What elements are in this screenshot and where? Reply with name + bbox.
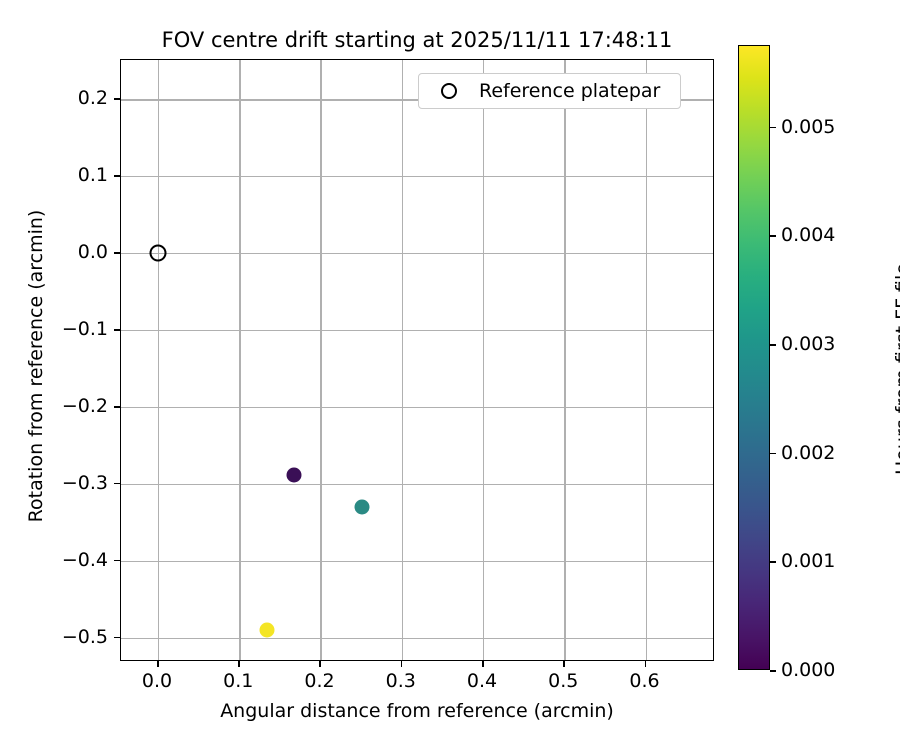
- x-tick-label: 0.1: [223, 670, 253, 692]
- colorbar-tick-label: 0.000: [781, 659, 835, 681]
- y-axis-label: Rotation from reference (arcmin): [25, 166, 47, 566]
- y-tick-label: 0.0: [78, 241, 108, 263]
- x-tick-label: 0.4: [467, 670, 497, 692]
- data-point[interactable]: [259, 623, 274, 638]
- reference-platepar-marker[interactable]: [149, 245, 166, 262]
- x-tick-mark: [319, 661, 321, 667]
- colorbar-tick-label: 0.001: [781, 550, 835, 572]
- y-tick-label: −0.3: [62, 472, 108, 494]
- colorbar-tick-mark: [770, 561, 776, 563]
- y-tick-mark: [114, 483, 120, 485]
- legend-open-circle-icon: [441, 83, 457, 99]
- y-tick-mark: [114, 637, 120, 639]
- data-point[interactable]: [354, 499, 369, 514]
- x-tick-label: 0.5: [548, 670, 578, 692]
- data-point[interactable]: [286, 467, 301, 482]
- y-tick-label: 0.2: [78, 87, 108, 109]
- x-tick-label: 0.0: [142, 670, 172, 692]
- x-tick-mark: [645, 661, 647, 667]
- colorbar-tick-mark: [770, 344, 776, 346]
- colorbar-label: Hours from first FF file: [892, 169, 900, 569]
- x-tick-mark: [401, 661, 403, 667]
- legend-label: Reference platepar: [479, 80, 670, 102]
- figure-canvas: FOV centre drift starting at 2025/11/11 …: [0, 0, 900, 750]
- colorbar-tick-mark: [770, 127, 776, 129]
- colorbar-tick-mark: [770, 670, 776, 672]
- y-tick-label: 0.1: [78, 164, 108, 186]
- colorbar-gradient: [739, 46, 769, 669]
- colorbar-tick-label: 0.005: [781, 116, 835, 138]
- y-tick-mark: [114, 560, 120, 562]
- y-tick-label: −0.4: [62, 549, 108, 571]
- x-tick-mark: [157, 661, 159, 667]
- y-tick-label: −0.1: [62, 318, 108, 340]
- plot-area[interactable]: [120, 59, 714, 661]
- x-tick-label: 0.3: [386, 670, 416, 692]
- x-axis-label: Angular distance from reference (arcmin): [120, 700, 714, 722]
- chart-title: FOV centre drift starting at 2025/11/11 …: [120, 28, 714, 52]
- x-tick-label: 0.2: [304, 670, 334, 692]
- colorbar-tick-label: 0.002: [781, 442, 835, 464]
- colorbar-tick-label: 0.003: [781, 333, 835, 355]
- y-tick-label: −0.5: [62, 626, 108, 648]
- x-tick-mark: [238, 661, 240, 667]
- colorbar-tick-mark: [770, 453, 776, 455]
- legend[interactable]: Reference platepar: [418, 73, 681, 109]
- colorbar[interactable]: [738, 45, 770, 670]
- y-tick-mark: [114, 329, 120, 331]
- colorbar-tick-mark: [770, 235, 776, 237]
- y-tick-mark: [114, 252, 120, 254]
- x-tick-mark: [482, 661, 484, 667]
- x-tick-mark: [563, 661, 565, 667]
- y-tick-mark: [114, 406, 120, 408]
- y-tick-mark: [114, 175, 120, 177]
- y-axis-ticks: 0.20.10.0−0.1−0.2−0.3−0.4−0.5: [0, 0, 108, 750]
- colorbar-tick-label: 0.004: [781, 224, 835, 246]
- data-points-layer: [121, 60, 713, 660]
- y-tick-label: −0.2: [62, 395, 108, 417]
- x-tick-label: 0.6: [629, 670, 659, 692]
- y-tick-mark: [114, 98, 120, 100]
